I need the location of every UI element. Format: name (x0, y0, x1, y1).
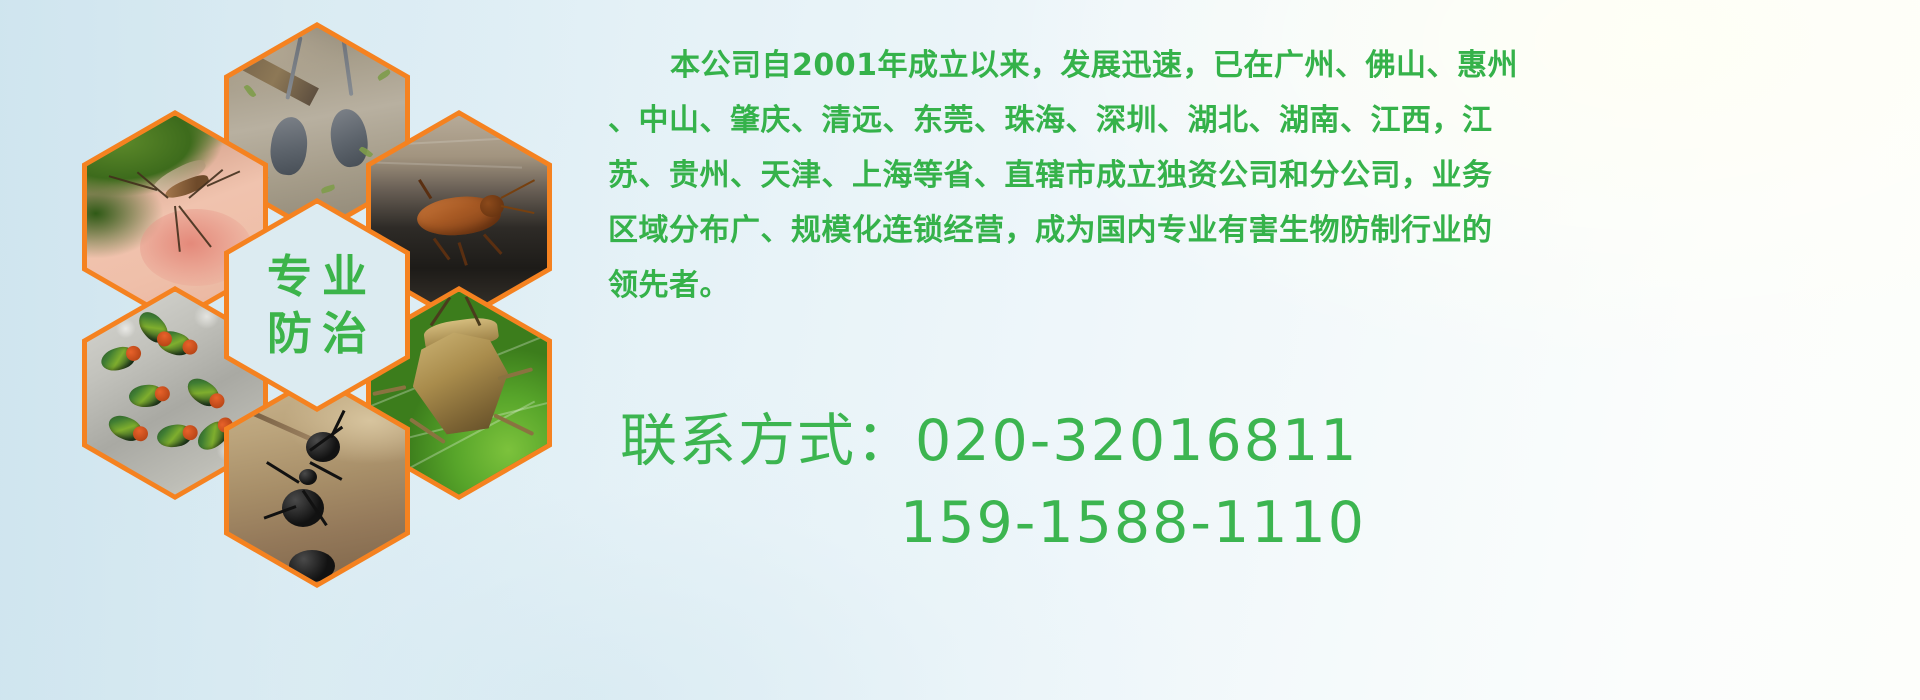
intro-line-5: 领先者。 (608, 258, 1904, 313)
slogan-line-2: 防治 (257, 310, 377, 357)
contact-landline-line[interactable]: 联系方式：020-32016811 (620, 400, 1920, 482)
slogan-line-1: 专业 (257, 253, 377, 300)
honeycomb-collage: 专业 防治 (78, 0, 578, 562)
contact-mobile-line[interactable]: 159-1588-1110 (620, 482, 1920, 564)
intro-line-2: 、中山、肇庆、清远、东莞、珠海、深圳、湖北、湖南、江西，江 (608, 93, 1904, 148)
company-intro-paragraph: 本公司自2001年成立以来，发展迅速，已在广州、佛山、惠州 、中山、肇庆、清远、… (608, 38, 1904, 313)
banner-root: 专业 防治 本公司自2001年成立以来，发展迅速，已在广州、佛山、惠州 、中山、… (0, 0, 1920, 700)
contact-block: 联系方式：020-32016811 159-1588-1110 (620, 400, 1920, 564)
intro-line-3: 苏、贵州、天津、上海等省、直辖市成立独资公司和分公司，业务 (608, 148, 1904, 203)
intro-line-4: 区域分布广、规模化连锁经营，成为国内专业有害生物防制行业的 (608, 203, 1904, 258)
slogan-panel: 专业 防治 (229, 204, 405, 407)
intro-line-1: 本公司自2001年成立以来，发展迅速，已在广州、佛山、惠州 (608, 38, 1904, 93)
